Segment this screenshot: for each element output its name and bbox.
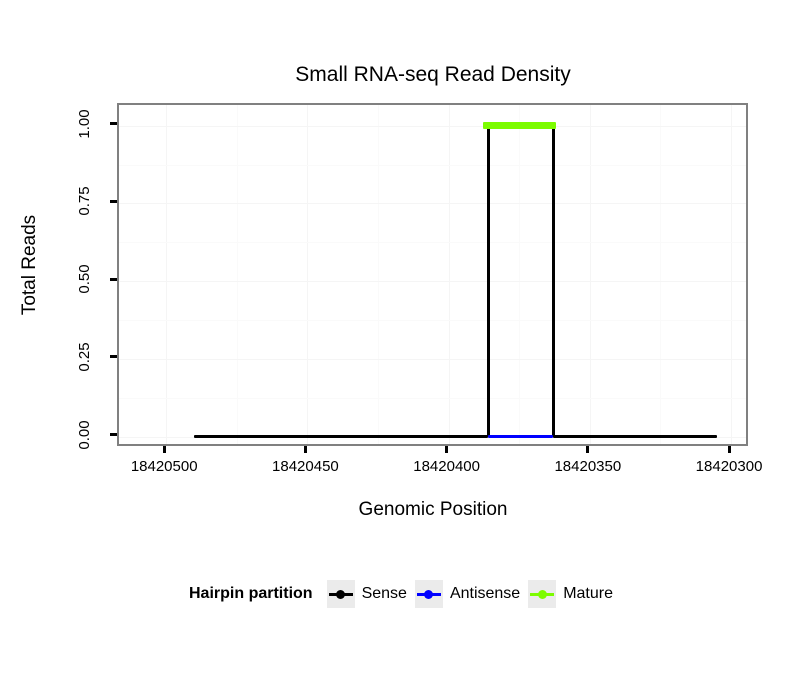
gridline-horizontal-minor — [119, 398, 746, 399]
series-mature-bar — [483, 122, 556, 129]
gridline-horizontal — [119, 281, 746, 282]
legend-item-antisense[interactable]: Antisense — [415, 580, 520, 608]
x-tick-mark — [163, 446, 166, 453]
x-tick-mark — [586, 446, 589, 453]
legend-item-mature[interactable]: Mature — [528, 580, 613, 608]
gridline-vertical — [590, 105, 591, 444]
gridline-vertical-minor — [660, 105, 661, 444]
legend-item-label: Antisense — [450, 585, 520, 603]
x-tick-label: 18420500 — [99, 458, 229, 476]
x-tick-mark — [728, 446, 731, 453]
gridline-vertical-minor — [378, 105, 379, 444]
legend-title: Hairpin partition — [189, 585, 313, 603]
gridline-vertical — [307, 105, 308, 444]
gridline-vertical-minor — [519, 105, 520, 444]
x-tick-label: 18420450 — [240, 458, 370, 476]
y-tick-label: 0.75 — [62, 192, 108, 210]
series-segment-sense — [552, 126, 555, 437]
chart-container: Small RNA-seq Read Density Total Reads G… — [0, 0, 810, 690]
y-tick-mark — [110, 200, 117, 203]
gridline-horizontal — [119, 126, 746, 127]
x-tick-label: 18420300 — [664, 458, 794, 476]
legend: Hairpin partition SenseAntisenseMature — [0, 580, 810, 608]
series-segment-antisense — [488, 435, 553, 438]
y-tick-mark — [110, 355, 117, 358]
y-tick-mark — [110, 122, 117, 125]
legend-item-sense[interactable]: Sense — [327, 580, 407, 608]
legend-item-label: Mature — [563, 585, 613, 603]
gridline-vertical — [166, 105, 167, 444]
y-tick-label: 0.50 — [62, 270, 108, 288]
gridline-vertical-minor — [237, 105, 238, 444]
legend-key-icon — [415, 580, 443, 608]
chart-title: Small RNA-seq Read Density — [117, 62, 749, 88]
y-tick-label: 0.00 — [62, 426, 108, 444]
legend-key-icon — [528, 580, 556, 608]
y-tick-mark — [110, 433, 117, 436]
legend-item-label: Sense — [362, 585, 407, 603]
y-axis-label: Total Reads — [18, 185, 42, 345]
gridline-vertical — [449, 105, 450, 444]
gridline-vertical — [731, 105, 732, 444]
x-tick-label: 18420350 — [523, 458, 653, 476]
gridline-horizontal — [119, 203, 746, 204]
series-segment-sense — [487, 126, 490, 437]
x-tick-label: 18420400 — [382, 458, 512, 476]
x-axis-label: Genomic Position — [117, 498, 749, 522]
plot-panel — [117, 103, 748, 446]
gridline-horizontal-minor — [119, 320, 746, 321]
gridline-horizontal-minor — [119, 242, 746, 243]
gridline-horizontal — [119, 359, 746, 360]
legend-key-icon — [327, 580, 355, 608]
y-tick-mark — [110, 278, 117, 281]
legend-entries: SenseAntisenseMature — [327, 580, 621, 608]
y-tick-label: 0.25 — [62, 348, 108, 366]
y-tick-label: 1.00 — [62, 115, 108, 133]
plot-area — [119, 105, 746, 444]
gridline-horizontal-minor — [119, 165, 746, 166]
series-segment-sense — [194, 435, 488, 438]
x-tick-mark — [445, 446, 448, 453]
series-segment-sense — [553, 435, 717, 438]
x-tick-mark — [304, 446, 307, 453]
